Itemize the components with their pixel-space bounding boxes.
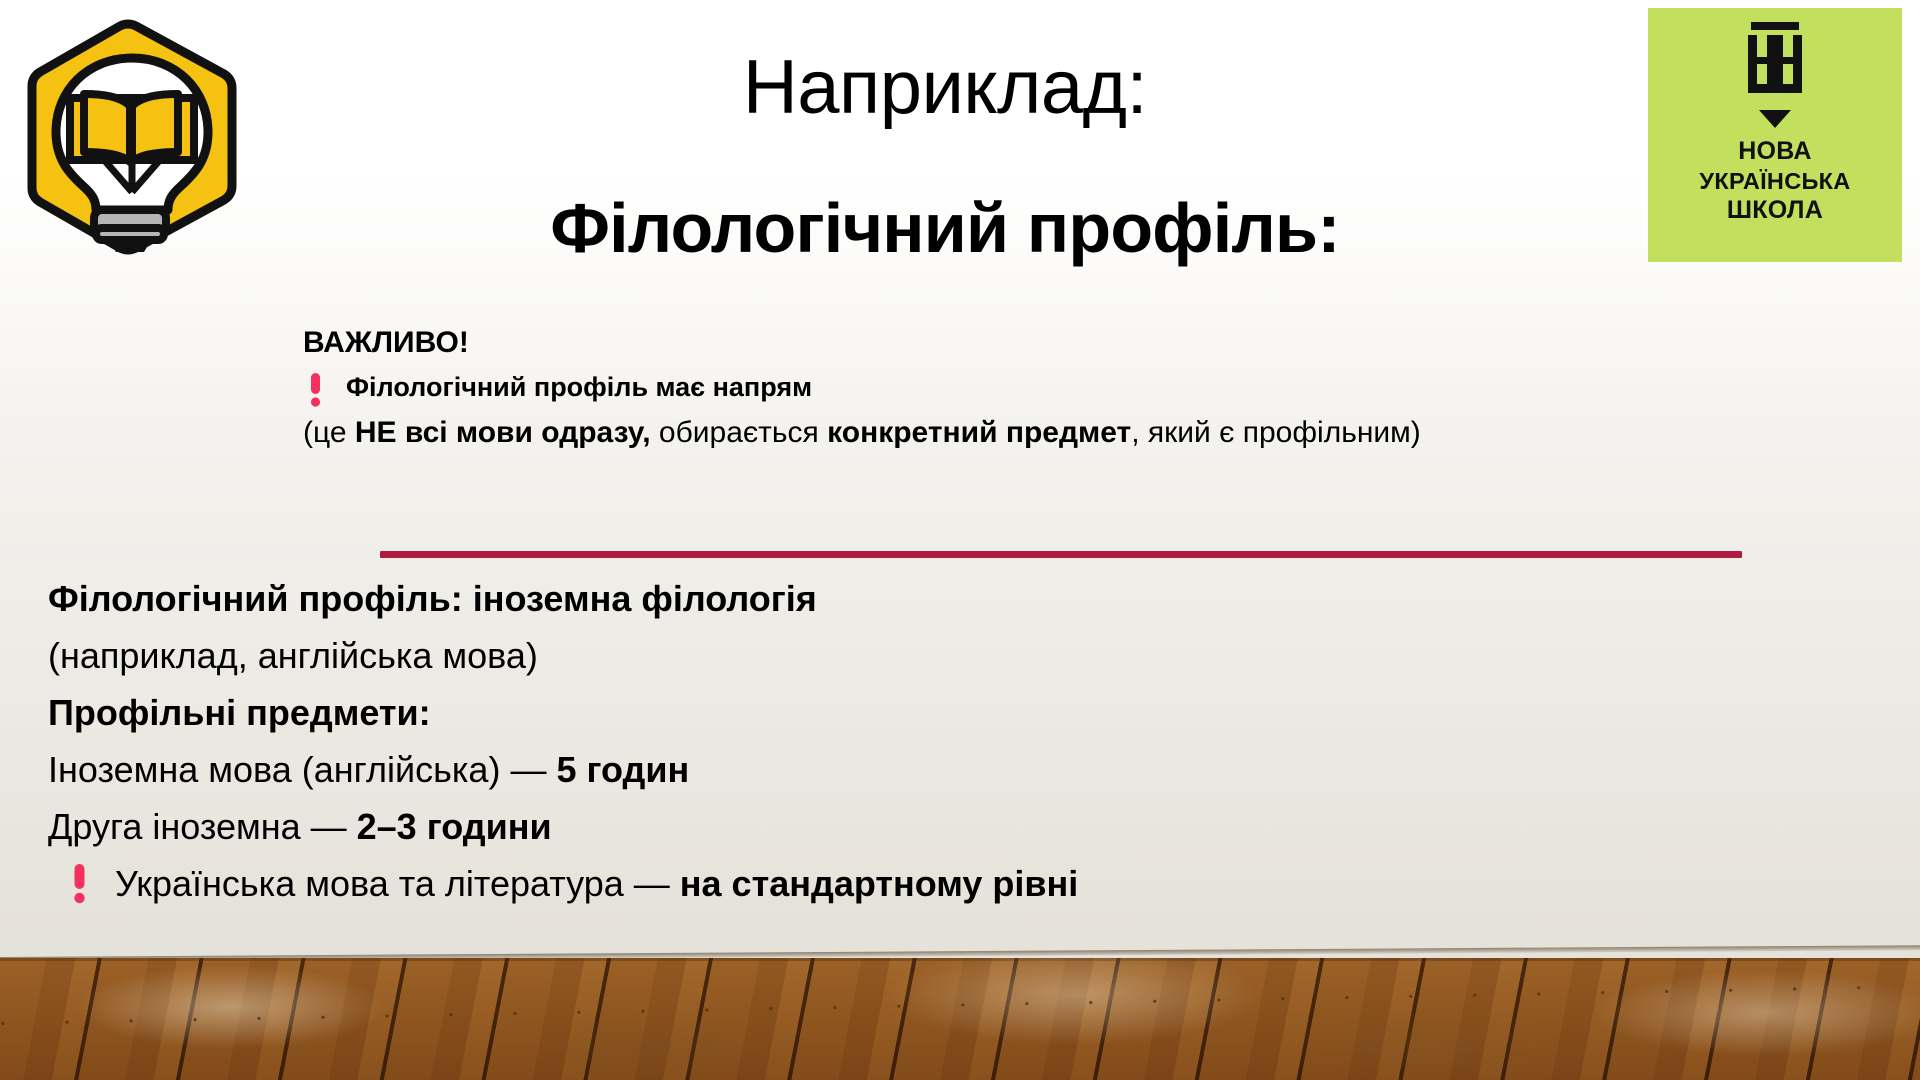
body-line-foreign-language-hours: 5 годин (556, 749, 689, 790)
body-line-second-foreign: Друга іноземна — 2–3 години (48, 798, 1748, 855)
down-triangle-icon (1759, 110, 1791, 128)
important-note-line: (це НЕ всі мови одразу, обирається конкр… (303, 415, 1663, 452)
body-line-second-foreign-plain: Друга іноземна — (48, 806, 357, 847)
body-line-ukrainian-plain: Українська мова та література — (115, 863, 680, 904)
exclamation-mark-icon (307, 373, 324, 407)
important-note-part2: обирається (651, 416, 828, 449)
wooden-floor-decoration (0, 958, 1920, 1080)
body-line-example: (наприклад, англійська мова) (48, 627, 1748, 684)
nus-logo-line-3: ШКОЛА (1699, 195, 1850, 226)
slide-canvas: НОВА УКРАЇНСЬКА ШКОЛА Наприклад: Філолог… (0, 0, 1920, 1080)
body-line-second-foreign-hours: 2–3 години (357, 806, 552, 847)
important-note-bold1: НЕ всі мови одразу, (355, 416, 651, 449)
slide-title-primary: Наприклад: (290, 48, 1600, 128)
body-line-subjects-title: Профільні предмети: (48, 684, 1748, 741)
important-heading: ВАЖЛИВО! (303, 324, 1663, 362)
important-bullet-text: Філологічний профіль має напрям (346, 371, 812, 403)
nus-logo-text: НОВА УКРАЇНСЬКА ШКОЛА (1699, 136, 1850, 226)
nus-logo-line-2: УКРАЇНСЬКА (1699, 167, 1850, 196)
body-line-ukrainian-text: Українська мова та література — на станд… (115, 855, 1078, 912)
body-line-foreign-language: Іноземна мова (англійська) — 5 годин (48, 741, 1748, 798)
slide-title-secondary: Філологічний профіль: (290, 192, 1600, 266)
important-note-part3: , який є профільним) (1131, 416, 1421, 449)
body-content: Філологічний профіль: іноземна філологія… (48, 570, 1748, 912)
body-line-profile-title: Філологічний профіль: іноземна філологія (48, 570, 1748, 627)
exclamation-mark-icon (70, 864, 89, 904)
important-notice-block: ВАЖЛИВО! Філологічний профіль має напрям… (303, 324, 1663, 451)
important-note-part1: (це (303, 416, 355, 449)
lightbulb-idea-badge-icon (18, 14, 258, 260)
important-note-bold2: конкретний предмет (827, 416, 1131, 449)
nova-ukrainska-shkola-logo: НОВА УКРАЇНСЬКА ШКОЛА (1648, 8, 1902, 262)
section-divider-line (380, 551, 1742, 558)
nus-logo-line-1: НОВА (1699, 136, 1850, 167)
nus-monogram-icon (1740, 22, 1810, 102)
body-line-foreign-language-plain: Іноземна мова (англійська) — (48, 749, 556, 790)
body-line-ukrainian-bold: на стандартному рівні (680, 863, 1079, 904)
body-line-ukrainian: Українська мова та література — на станд… (48, 855, 1748, 912)
important-bullet-row: Філологічний профіль має напрям (303, 371, 1663, 405)
